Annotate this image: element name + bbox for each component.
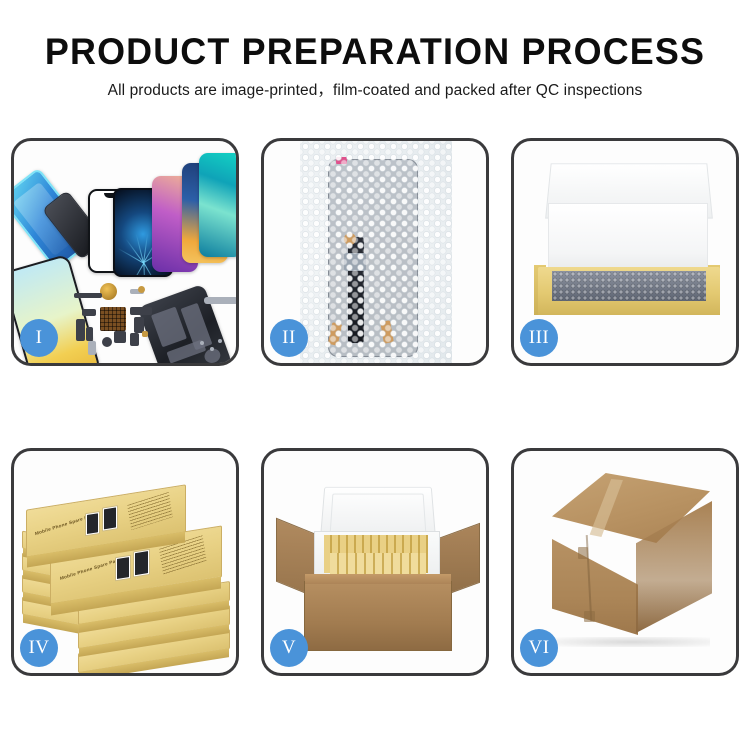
process-step-grid: I II <box>11 138 739 676</box>
step-panel-6: VI <box>511 448 739 676</box>
box-spec-lines <box>127 492 173 530</box>
open-shipping-carton <box>278 467 478 663</box>
product-preparation-infographic: PRODUCT PREPARATION PROCESS All products… <box>0 0 750 750</box>
step-badge-1: I <box>20 319 58 357</box>
carton-handle-tab <box>578 547 588 559</box>
step-badge-6: VI <box>520 629 558 667</box>
header: PRODUCT PREPARATION PROCESS All products… <box>0 30 750 101</box>
box-thumb-screen <box>115 555 131 582</box>
step-panel-5: V <box>261 448 489 676</box>
step-panel-3: III <box>511 138 739 366</box>
kraft-tray-with-foam <box>532 157 724 337</box>
page-title: PRODUCT PREPARATION PROCESS <box>11 30 739 74</box>
step-panel-1: I <box>11 138 239 366</box>
step-badge-5: V <box>270 629 308 667</box>
sealed-shipping-carton <box>532 473 724 655</box>
phone-backplate-internals <box>137 284 232 363</box>
step-badge-3: III <box>520 319 558 357</box>
bubble-wrap-bag <box>300 141 452 363</box>
carton-front-panel <box>304 581 452 651</box>
step-panel-2: II <box>261 138 489 366</box>
phone-teal-gradient <box>199 153 236 257</box>
kraft-tray-base <box>538 267 720 315</box>
step-badge-2: II <box>270 319 308 357</box>
carton-handle-tab <box>584 611 595 622</box>
box-thumb-screen <box>133 549 150 578</box>
box-thumb-screen <box>85 511 100 536</box>
packed-boxes-row <box>330 553 426 575</box>
step-badge-4: IV <box>20 629 58 667</box>
bubble-texture-back <box>300 141 452 363</box>
page-subtitle: All products are image-printed，film-coat… <box>0 81 750 101</box>
box-thumb-screen <box>102 505 118 532</box>
carton-shadow <box>554 637 710 647</box>
step-panel-4: Mobile Phone Spare Parts Mobile Phone Sp… <box>11 448 239 676</box>
grey-foam-insert <box>552 271 706 301</box>
foam-sheet <box>548 203 708 275</box>
